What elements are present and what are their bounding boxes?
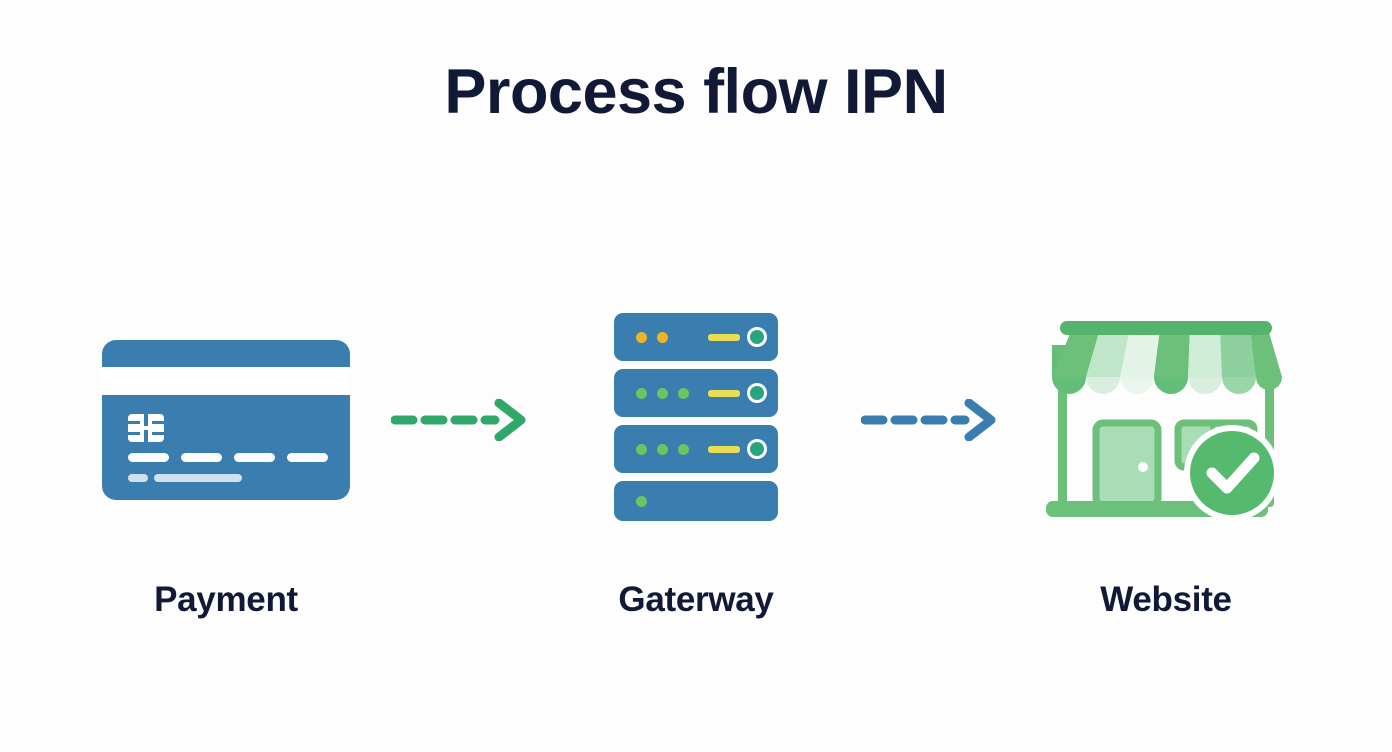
label-gateway: Gaterway [546,580,846,620]
process-flow-row [0,290,1392,550]
card-number-dash [287,453,328,462]
status-dot-green [636,388,647,399]
server-bar [708,334,740,341]
dashed-arrow-icon-blue [861,399,1001,441]
node-gateway[interactable] [546,290,846,550]
storefront-icon [1038,315,1294,525]
store-awning [1052,321,1282,394]
store-door [1096,423,1158,505]
store-post-left [1058,377,1067,507]
dashed-arrow-icon-green [391,399,531,441]
node-labels-row: Payment Gaterway Website [0,570,1392,630]
card-name-bar-large [154,474,242,482]
server-bar [708,446,740,453]
server-status-dots [636,388,689,399]
status-dot-amber [657,332,668,343]
server-stack-icon [614,313,778,527]
chip-contact-line [128,421,140,424]
status-dot-green [657,388,668,399]
status-dot-green [657,444,668,455]
card-number-dash [128,453,169,462]
page-title: Process flow IPN [0,58,1392,127]
awning-rail [1060,321,1272,335]
server-bar [708,390,740,397]
status-dot-green [678,388,689,399]
card-number-dash [181,453,222,462]
card-chip-icon [128,414,164,442]
server-row [614,425,778,473]
connector-payment-to-gateway [376,290,546,550]
server-led-icon [747,383,767,403]
node-payment[interactable] [76,290,376,550]
server-row [614,313,778,361]
check-circle-icon [1184,425,1280,521]
status-dot-green [678,444,689,455]
label-website: Website [1016,580,1316,620]
storefront-graphic [1038,315,1294,525]
diagram-canvas: Process flow IPN [0,0,1392,752]
card-name-bar-small [128,474,148,482]
chip-contact-line [152,432,164,435]
server-led-icon [747,327,767,347]
card-number-dashes [128,453,328,462]
door-knob [1138,462,1148,472]
node-website[interactable] [1016,290,1316,550]
label-payment: Payment [76,580,376,620]
server-row [614,369,778,417]
chip-contact-line [152,421,164,424]
server-status-dots [636,496,647,507]
credit-card-icon [102,340,350,500]
chip-contact-line [138,426,154,430]
server-row [614,481,778,521]
status-dot-green [636,444,647,455]
card-magnetic-stripe [102,367,350,395]
status-dot-amber [636,332,647,343]
connector-gateway-to-website [846,290,1016,550]
server-status-dots [636,444,689,455]
server-status-dots [636,332,668,343]
status-dot-green [636,496,647,507]
chip-contact-line [128,432,140,435]
card-number-dash [234,453,275,462]
server-led-icon [747,439,767,459]
